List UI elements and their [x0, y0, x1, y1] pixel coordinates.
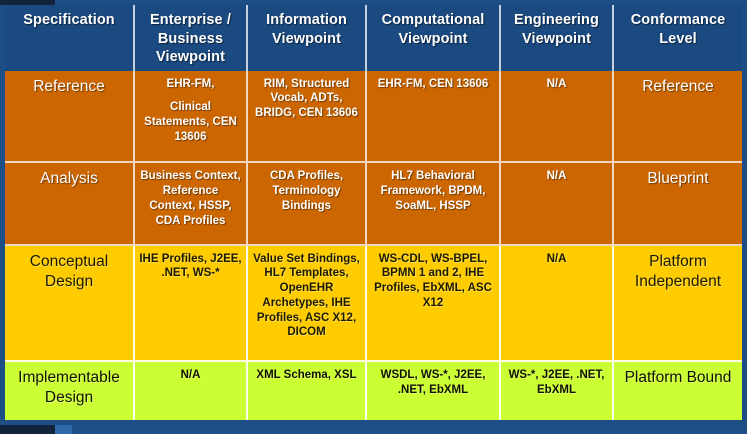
cell-computational-conceptual-design: WS-CDL, WS-BPEL, BPMN 1 and 2, IHE Profi…: [367, 246, 501, 363]
slide-chrome-bottom-accent: [55, 425, 72, 434]
cell-enterprise-business-conceptual-design: IHE Profiles, J2EE, .NET, WS-*: [135, 246, 248, 363]
cell-computational-reference: EHR-FM, CEN 13606: [367, 71, 501, 164]
table-row-conceptual-design: Conceptual Design IHE Profiles, J2EE, .N…: [5, 246, 742, 363]
cell-line-primary: EHR-FM,: [139, 77, 242, 92]
cell-enterprise-business-analysis: Business Context, Reference Context, HSS…: [135, 163, 248, 245]
cell-conformance-reference: Reference: [614, 71, 742, 164]
specification-viewpoint-matrix: Specification Enterprise / Business View…: [5, 5, 742, 420]
table-row-reference: Reference EHR-FM, Clinical Statements, C…: [5, 71, 742, 164]
cell-computational-analysis: HL7 Behavioral Framework, BPDM, SoaML, H…: [367, 163, 501, 245]
cell-computational-implementable-design: WSDL, WS-*, J2EE, .NET, EbXML: [367, 362, 501, 420]
cell-engineering-reference: N/A: [501, 71, 614, 164]
cell-conformance-conceptual-design: Platform Independent: [614, 246, 742, 363]
cell-enterprise-business-implementable-design: N/A: [135, 362, 248, 420]
column-header-computational-viewpoint: Computational Viewpoint: [367, 5, 501, 71]
column-header-information-viewpoint: Information Viewpoint: [248, 5, 367, 71]
cell-information-reference: RIM, Structured Vocab, ADTs, BRIDG, CEN …: [248, 71, 367, 164]
cell-specification-analysis: Analysis: [5, 163, 135, 245]
cell-information-conceptual-design: Value Set Bindings, HL7 Templates, OpenE…: [248, 246, 367, 363]
column-header-specification: Specification: [5, 5, 135, 71]
cell-engineering-conceptual-design: N/A: [501, 246, 614, 363]
cell-specification-implementable-design: Implementable Design: [5, 362, 135, 420]
cell-conformance-analysis: Blueprint: [614, 163, 742, 245]
slide-chrome-bottom-strip: [0, 425, 55, 434]
cell-line-gap: [139, 91, 242, 100]
cell-information-implementable-design: XML Schema, XSL: [248, 362, 367, 420]
cell-information-analysis: CDA Profiles, Terminology Bindings: [248, 163, 367, 245]
slide-canvas: Specification Enterprise / Business View…: [0, 0, 747, 434]
table-header-row: Specification Enterprise / Business View…: [5, 5, 742, 71]
cell-engineering-analysis: N/A: [501, 163, 614, 245]
cell-specification-reference: Reference: [5, 71, 135, 164]
cell-enterprise-business-reference: EHR-FM, Clinical Statements, CEN 13606: [135, 71, 248, 164]
cell-engineering-implementable-design: WS-*, J2EE, .NET, EbXML: [501, 362, 614, 420]
column-header-engineering-viewpoint: Engineering Viewpoint: [501, 5, 614, 71]
table-row-implementable-design: Implementable Design N/A XML Schema, XSL…: [5, 362, 742, 420]
cell-line-secondary: Clinical Statements, CEN 13606: [139, 100, 242, 144]
cell-specification-conceptual-design: Conceptual Design: [5, 246, 135, 363]
cell-conformance-implementable-design: Platform Bound: [614, 362, 742, 420]
table-row-analysis: Analysis Business Context, Reference Con…: [5, 163, 742, 245]
column-header-enterprise-business-viewpoint: Enterprise / Business Viewpoint: [135, 5, 248, 71]
column-header-conformance-level: Conformance Level: [614, 5, 742, 71]
